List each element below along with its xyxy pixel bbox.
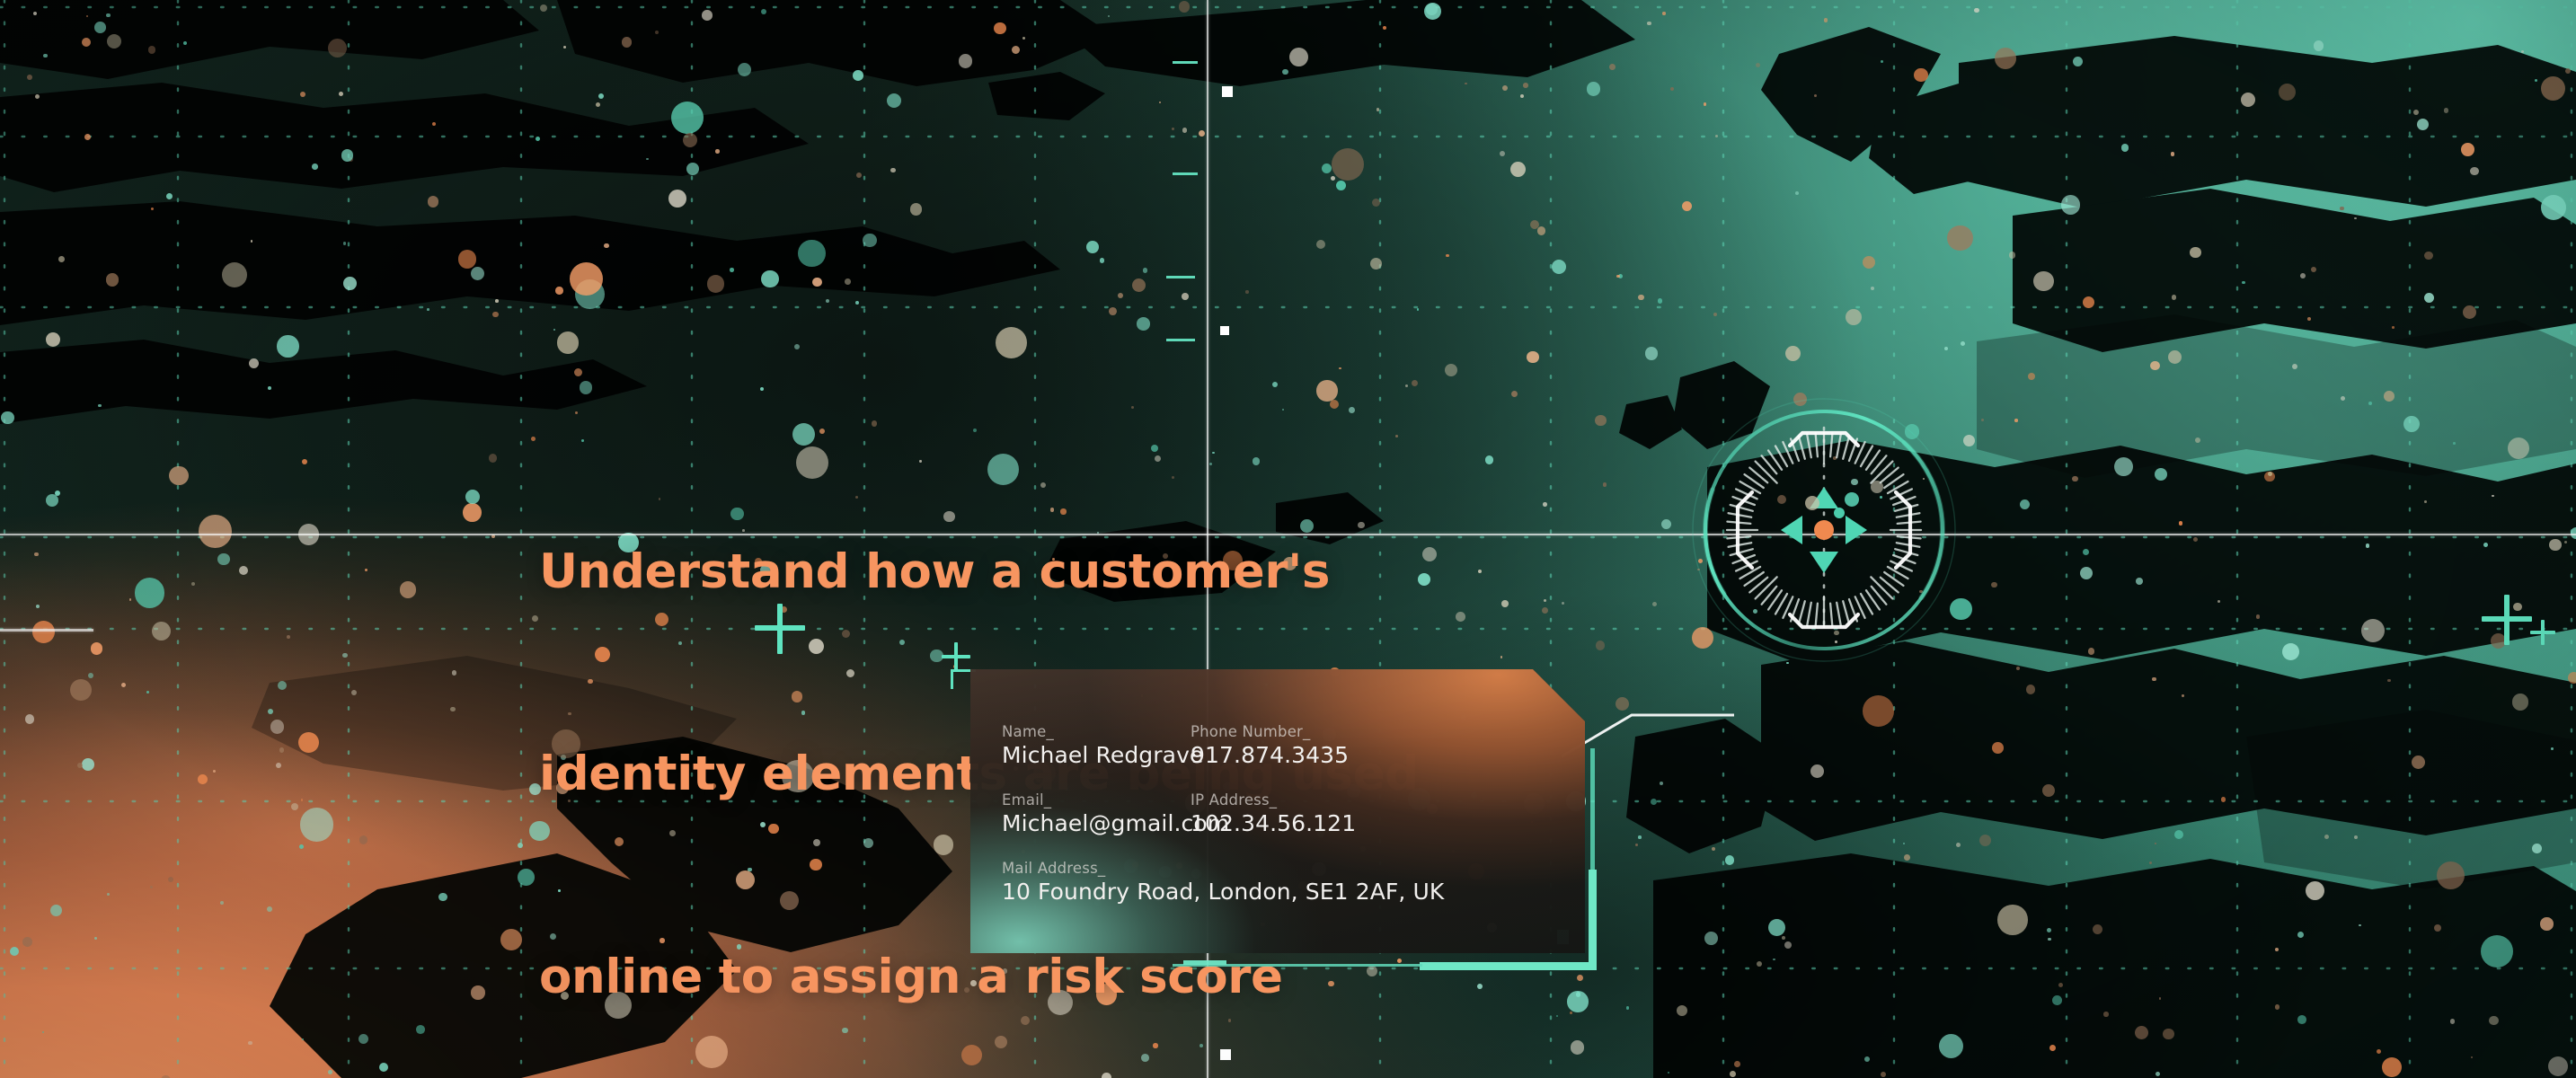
vignette-overlay: [0, 0, 2576, 1078]
hero-banner: Understand how a customer's identity ele…: [0, 0, 2576, 1078]
